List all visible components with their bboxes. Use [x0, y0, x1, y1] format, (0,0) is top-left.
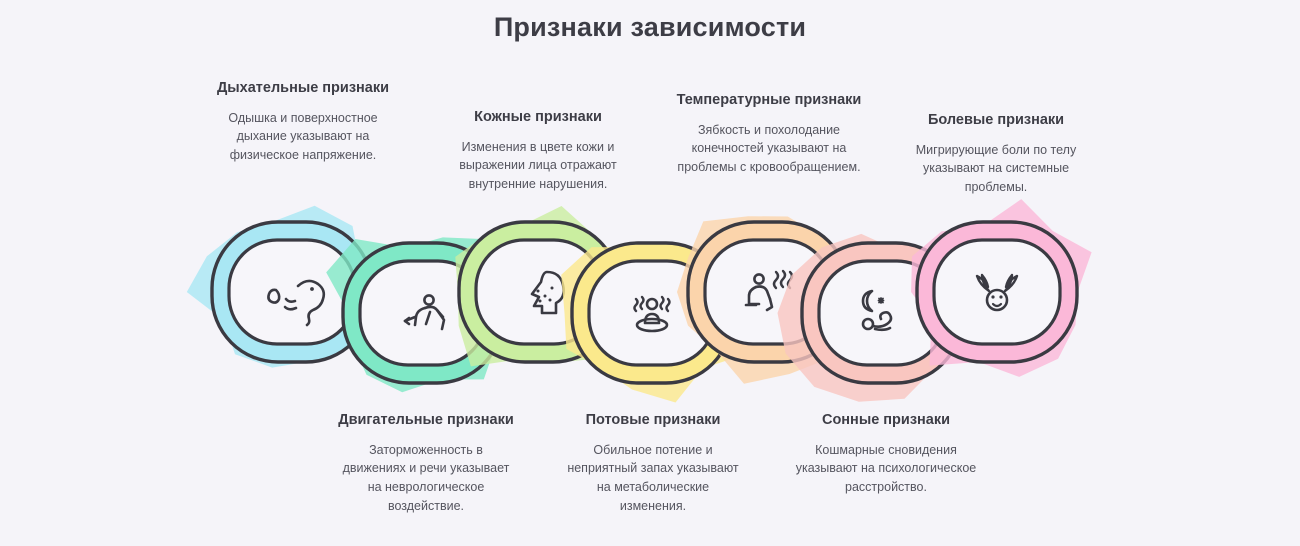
callout-bottom-1: Потовые признакиОбильное потение и непри… [563, 410, 743, 516]
callout-top-2: Температурные признакиЗябкость и похолод… [676, 90, 862, 177]
chain-link-headache-face[interactable] [911, 199, 1092, 377]
callout-title: Сонные признаки [793, 410, 979, 431]
page-title: Признаки зависимости [0, 12, 1300, 43]
callout-title: Дыхательные признаки [213, 78, 393, 99]
callout-description: Заторможенность в движениях и речи указы… [336, 441, 516, 516]
infographic-canvas: Признаки зависимости [0, 0, 1300, 546]
link-inner-fill [229, 240, 355, 344]
callout-top-3: Болевые признакиМигрирующие боли по телу… [906, 110, 1086, 197]
callout-top-1: Кожные признакиИзменения в цвете кожи и … [448, 107, 628, 194]
link-inner-fill [934, 240, 1060, 344]
callout-description: Обильное потение и неприятный запах указ… [563, 441, 743, 516]
callout-title: Потовые признаки [563, 410, 743, 431]
callout-description: Мигрирующие боли по телу указывают на си… [906, 141, 1086, 197]
callout-title: Кожные признаки [448, 107, 628, 128]
callout-bottom-2: Сонные признакиКошмарные сновидения указ… [793, 410, 979, 497]
callout-top-0: Дыхательные признакиОдышка и поверхностн… [213, 78, 393, 165]
callout-bottom-0: Двигательные признакиЗаторможенность в д… [336, 410, 516, 516]
callout-title: Двигательные признаки [336, 410, 516, 431]
callout-description: Кошмарные сновидения указывают на психол… [793, 441, 979, 497]
callout-description: Зябкость и похолодание конечностей указы… [676, 121, 862, 177]
callout-description: Изменения в цвете кожи и выражении лица … [448, 138, 628, 194]
callout-title: Температурные признаки [676, 90, 862, 111]
callout-title: Болевые признаки [906, 110, 1086, 131]
callout-description: Одышка и поверхностное дыхание указывают… [213, 109, 393, 165]
